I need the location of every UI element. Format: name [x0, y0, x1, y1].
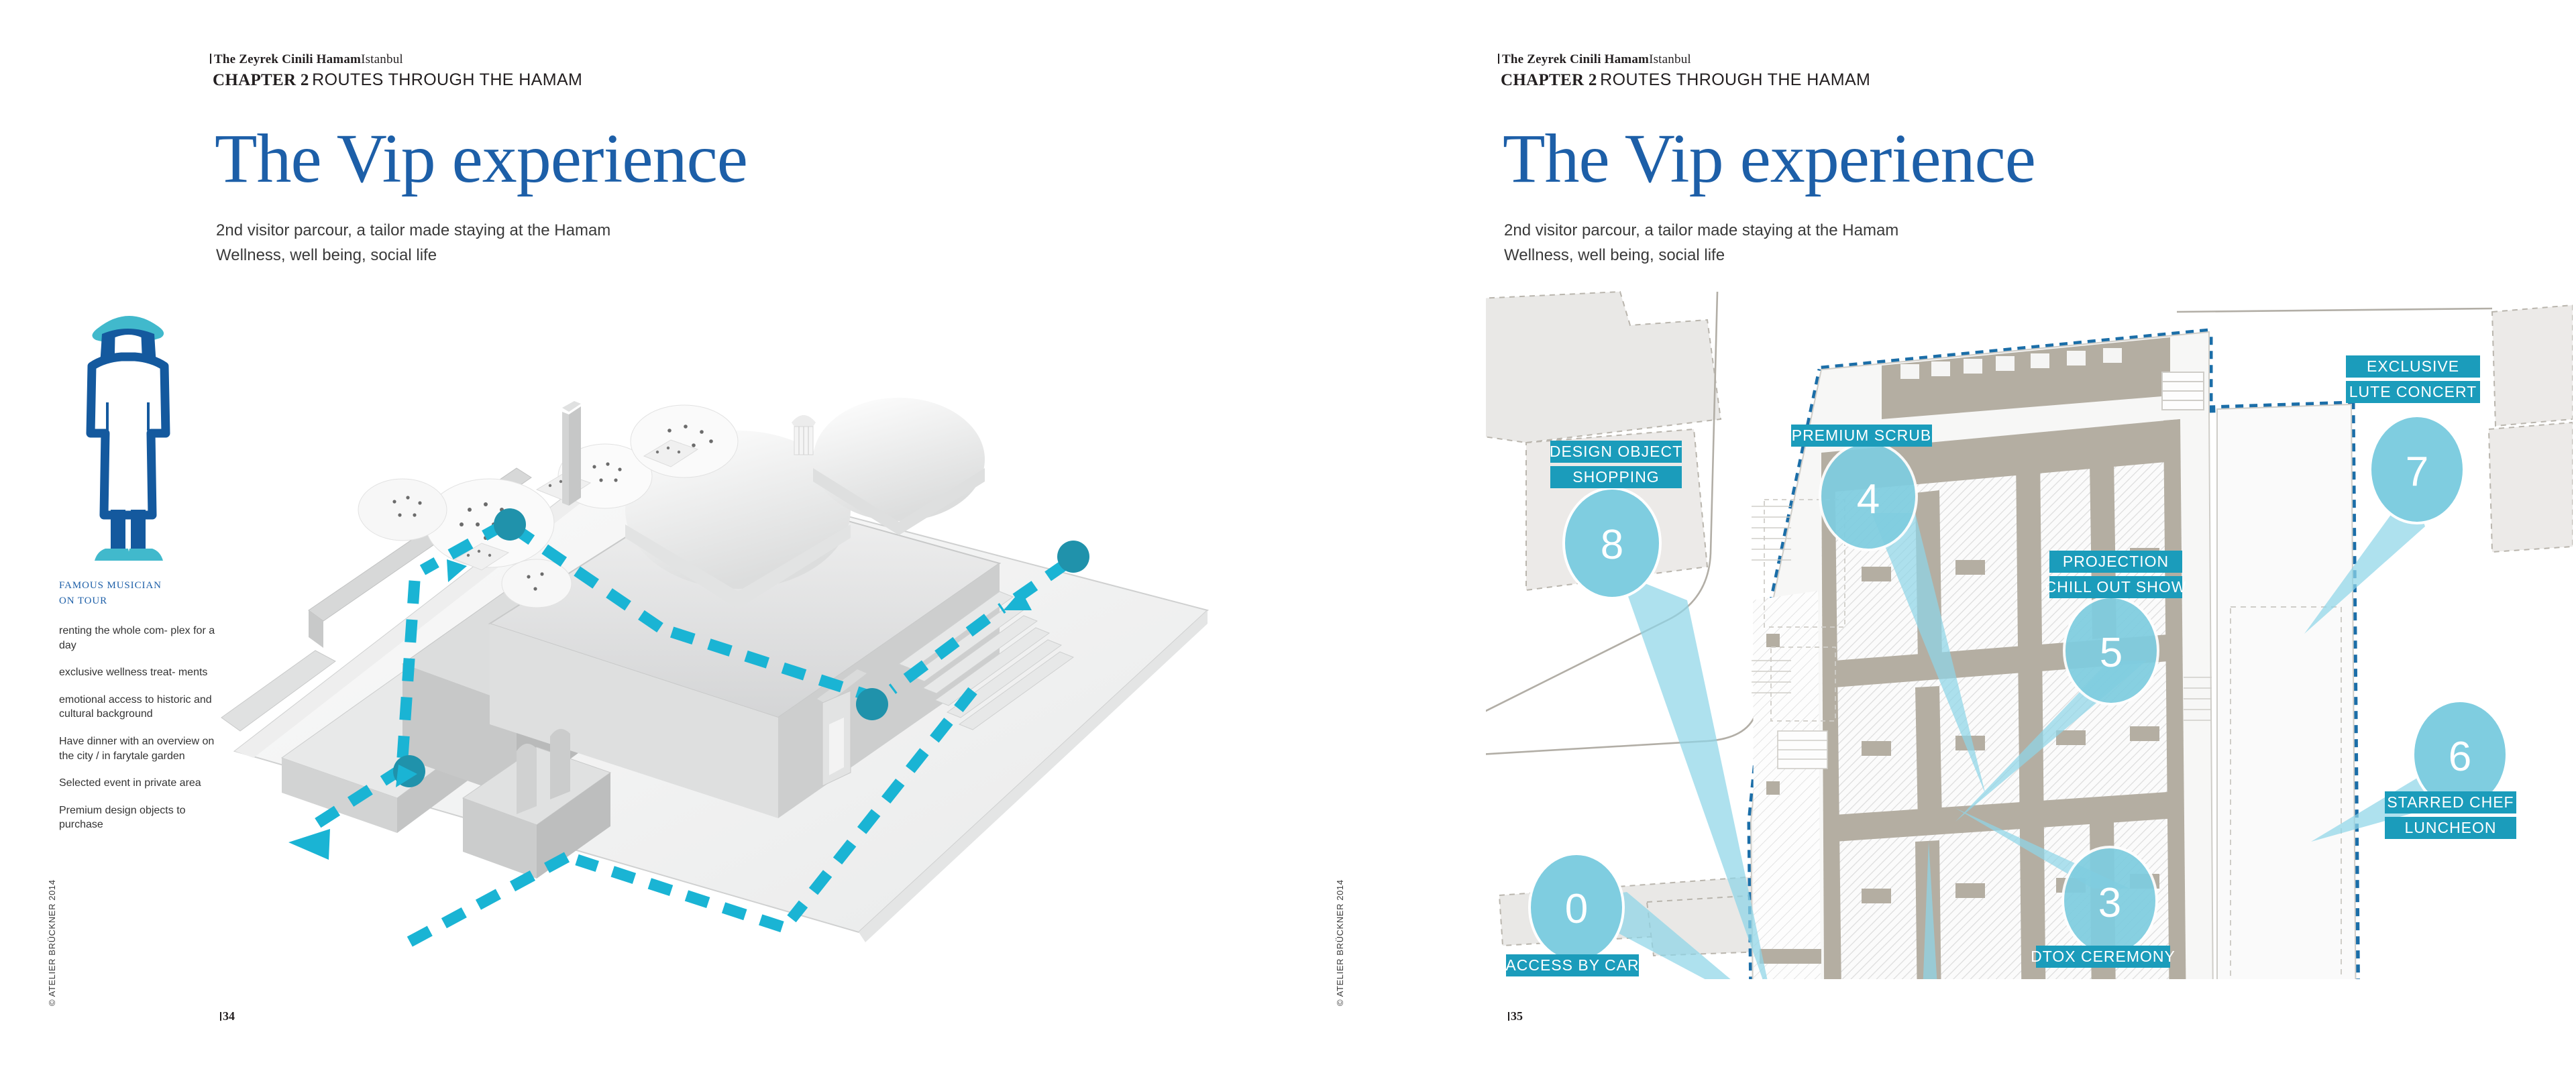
brand-name: The Zeyrek Cinili Hamam: [1502, 52, 1649, 66]
station-label-5-line2: CHILL OUT SHOW: [2045, 578, 2187, 596]
station-label-3-line1: DTOX CEREMONY: [2031, 948, 2176, 965]
pageno-rule: [220, 1012, 221, 1021]
arrowhead: [288, 829, 330, 860]
chapter-heading: CHAPTER 2 ROUTES THROUGH THE HAMAM: [1501, 70, 1870, 90]
brand-kicker: The Zeyrek Cinili HamamIstanbul: [210, 52, 403, 67]
chapter-number: CHAPTER 2: [1501, 71, 1597, 89]
station-label-7-line2: LUTE CONCERT: [2349, 383, 2477, 400]
copyright-vertical: © ATELIER BRÜCKNER 2014: [47, 879, 57, 1006]
station-number-5: 5: [2100, 630, 2123, 676]
station-label-5-line1: PROJECTION: [2063, 553, 2169, 570]
chapter-heading: CHAPTER 2 ROUTES THROUGH THE HAMAM: [213, 70, 582, 90]
station-label-0[interactable]: ACCESS BY CAR: [1505, 954, 1639, 976]
female-visitor-pictogram-icon: [91, 316, 166, 561]
chapter-title: ROUTES THROUGH THE HAMAM: [1600, 70, 1870, 89]
kicker-rule: [1498, 54, 1499, 64]
station-label-8-line1: DESIGN OBJECT: [1550, 443, 1682, 460]
station-marker-4[interactable]: 4: [1820, 443, 1917, 550]
route-node: [494, 508, 526, 541]
page-subtitle: 2nd visitor parcour, a tailor made stayi…: [216, 218, 610, 268]
model-lantern: [792, 415, 816, 455]
station-label-7-line1: EXCLUSIVE: [2367, 357, 2459, 375]
station-number-6: 6: [2449, 734, 2471, 780]
station-label-8-line2: SHOPPING: [1572, 468, 1659, 486]
station-marker-8[interactable]: 8: [1564, 488, 1660, 598]
station-number-7: 7: [2406, 449, 2428, 495]
page-subtitle: 2nd visitor parcour, a tailor made stayi…: [1504, 218, 1898, 268]
station-number-4: 4: [1857, 476, 1880, 522]
station-number-0: 0: [1565, 886, 1588, 932]
page-number-value: 34: [223, 1009, 235, 1023]
pageno-rule: [1508, 1012, 1509, 1021]
brand-city: Istanbul: [361, 52, 403, 66]
station-marker-3[interactable]: 3: [2063, 847, 2157, 954]
chapter-number: CHAPTER 2: [213, 71, 309, 89]
sidebar-heading: FAMOUS MUSICIAN ON TOUR: [59, 578, 162, 608]
page-number: 35: [1508, 1009, 1523, 1023]
page-right: The Zeyrek Cinili HamamIstanbul CHAPTER …: [1288, 0, 2576, 1067]
hamam-3d-model: [201, 288, 1234, 959]
page-title: The Vip experience: [1503, 124, 2035, 194]
station-marker-0[interactable]: 0: [1529, 854, 1623, 961]
route-node: [856, 688, 888, 720]
copyright-vertical: © ATELIER BRÜCKNER 2014: [1335, 879, 1345, 1006]
brand-city: Istanbul: [1649, 52, 1691, 66]
station-label-6-line1: STARRED CHEF: [2387, 793, 2514, 811]
station-label-4[interactable]: PREMIUM SCRUB: [1791, 425, 1932, 447]
station-label-3[interactable]: DTOX CEREMONY: [2031, 946, 2176, 968]
brand-kicker: The Zeyrek Cinili HamamIstanbul: [1498, 52, 1691, 67]
station-number-8: 8: [1601, 522, 1623, 568]
kicker-rule: [210, 54, 211, 64]
page-number-value: 35: [1511, 1009, 1523, 1023]
book-spread: The Zeyrek Cinili HamamIstanbul CHAPTER …: [0, 0, 2576, 1067]
page-number: 34: [220, 1009, 235, 1023]
route-node: [1057, 541, 1089, 573]
chapter-title: ROUTES THROUGH THE HAMAM: [312, 70, 582, 89]
station-label-4-line1: PREMIUM SCRUB: [1792, 427, 1932, 444]
station-label-0-line1: ACCESS BY CAR: [1505, 956, 1639, 974]
station-label-6-line2: LUNCHEON: [2404, 819, 2496, 836]
station-marker-5[interactable]: 5: [2064, 597, 2158, 704]
station-number-3: 3: [2098, 880, 2121, 926]
page-title: The Vip experience: [215, 124, 747, 194]
brand-name: The Zeyrek Cinili Hamam: [214, 52, 361, 66]
visitor-pictogram: [64, 302, 191, 570]
model-chimney: [562, 401, 581, 506]
station-label-7[interactable]: EXCLUSIVE LUTE CONCERT: [2346, 355, 2480, 403]
page-left: The Zeyrek Cinili HamamIstanbul CHAPTER …: [0, 0, 1288, 1067]
station-marker-7[interactable]: 7: [2370, 416, 2464, 523]
site-plan: 8 0 1 2 3: [1486, 285, 2573, 979]
